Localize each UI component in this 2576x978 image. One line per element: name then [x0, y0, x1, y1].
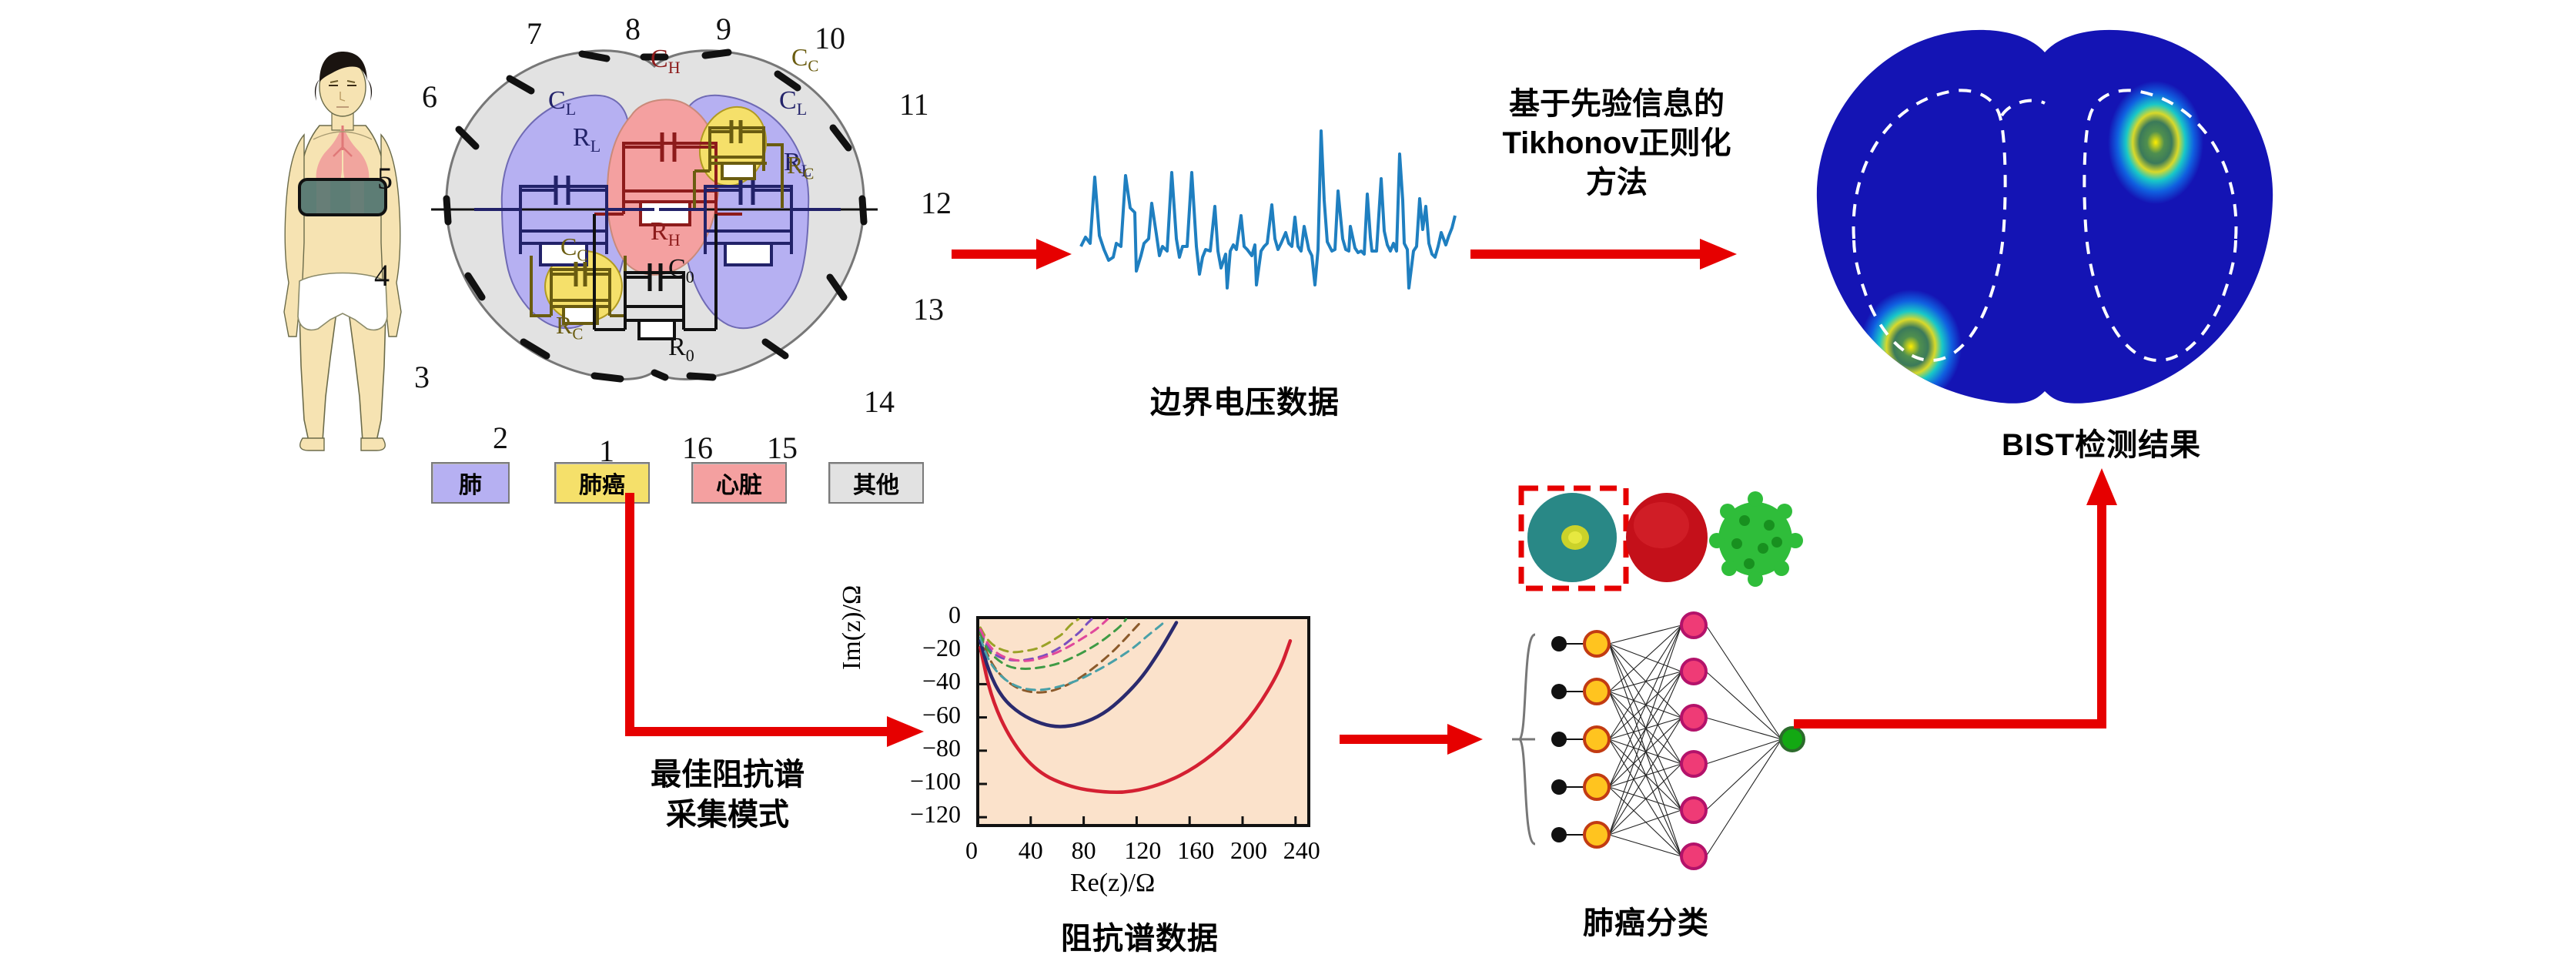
chart-x-tick: 120 — [1124, 836, 1161, 865]
neural-network-diagram — [1501, 608, 1809, 878]
electrode-number-9: 9 — [716, 11, 731, 47]
label-left-lung-capacitor: CL — [548, 86, 576, 119]
cell-sample-images — [1501, 477, 1809, 601]
nn-node-hidden — [1681, 844, 1706, 869]
chart-y-tick: −120 — [847, 800, 961, 829]
arrow-voltage-to-bist — [1470, 231, 1740, 277]
nn-edge — [1609, 644, 1681, 810]
tissue-legend: 肺 肺癌 心脏 其他 — [431, 462, 862, 496]
electrode-number-2: 2 — [493, 420, 508, 456]
label-right-lung-capacitor: CL — [779, 86, 807, 119]
chart-x-tick: 0 — [965, 836, 978, 865]
optimal-acquisition-line-2: 采集模式 — [616, 795, 839, 835]
nn-node-hidden — [1681, 798, 1706, 822]
chart-x-tick: 240 — [1283, 836, 1320, 865]
chart-y-tick: −40 — [847, 667, 961, 695]
label-left-tumour-resistor: RC — [556, 311, 583, 343]
chart-y-axis-label: Im(z)/Ω — [838, 585, 867, 670]
nn-edge — [1609, 787, 1681, 810]
nn-edge — [1609, 625, 1681, 835]
nn-node-input — [1584, 727, 1609, 752]
nn-node-hidden — [1681, 613, 1706, 638]
label-other-resistor: R0 — [668, 333, 694, 366]
nn-edge — [1609, 692, 1681, 856]
nn-edge — [1609, 644, 1681, 764]
bist-hotspot-right — [2108, 81, 2203, 204]
optimal-acquisition-line-1: 最佳阻抗谱 — [616, 755, 839, 795]
nn-node-hidden — [1681, 705, 1706, 730]
arrow-network-to-bist — [1794, 462, 2156, 755]
electrode-number-12: 12 — [921, 185, 952, 221]
nn-input-dot — [1551, 779, 1567, 795]
label-heart-resistor: RH — [651, 217, 681, 250]
electrode-number-16: 16 — [682, 430, 713, 466]
nn-edge — [1706, 625, 1781, 739]
electrode-number-10: 10 — [815, 20, 845, 56]
nn-edge — [1609, 625, 1681, 644]
nn-input-dot — [1551, 732, 1567, 747]
bist-caption: BIST检测结果 — [2002, 420, 2201, 464]
nn-edge — [1706, 739, 1781, 856]
nn-input-dot — [1551, 827, 1567, 842]
label-left-tumour-capacitor: CC — [560, 233, 587, 265]
nn-edge — [1706, 739, 1781, 764]
nn-node-input — [1584, 679, 1609, 704]
chart-y-tick: −80 — [847, 734, 961, 762]
tikhonov-line-2: Tikhonov正则化 — [1463, 124, 1771, 163]
nn-edge — [1609, 739, 1681, 764]
label-left-lung-resistor: RL — [573, 123, 601, 156]
chart-x-tick: 160 — [1177, 836, 1214, 865]
electrode-number-11: 11 — [899, 86, 929, 122]
nn-input-dot — [1551, 684, 1567, 699]
arrow-impedance-to-network — [1340, 716, 1486, 762]
nn-node-input — [1584, 631, 1609, 656]
chart-x-axis-label: Re(z)/Ω — [1070, 869, 1155, 898]
electrode-number-14: 14 — [864, 383, 895, 420]
chart-x-tick: 200 — [1230, 836, 1267, 865]
impedance-caption: 阻抗谱数据 — [1061, 913, 1219, 958]
electrode-number-13: 13 — [913, 291, 944, 327]
electrode-number-15: 15 — [767, 430, 798, 466]
electrode-number-5: 5 — [377, 160, 393, 196]
nn-input-dot — [1551, 636, 1567, 651]
nn-node-input — [1584, 822, 1609, 847]
label-heart-capacitor: CH — [651, 45, 681, 78]
nn-node-input — [1584, 775, 1609, 799]
tikhonov-method-label: 基于先验信息的 Tikhonov正则化 方法 — [1463, 85, 1771, 203]
electrode-number-8: 8 — [625, 11, 641, 47]
teal-cell — [1527, 493, 1617, 582]
nn-node-hidden — [1681, 659, 1706, 684]
green-spiky-cell — [1709, 491, 1803, 587]
human-body-illustration — [266, 35, 420, 450]
nn-edge — [1706, 718, 1781, 739]
chart-x-tick-labels: 04080120160200240 — [847, 608, 1324, 655]
chart-x-tick: 40 — [1019, 836, 1043, 865]
bist-reconstruction-image — [1771, 8, 2541, 439]
arrow-thorax-to-voltage — [952, 231, 1075, 277]
nn-edge — [1609, 692, 1681, 810]
electrode-number-7: 7 — [527, 15, 542, 52]
bist-hotspot-left — [1860, 290, 1962, 404]
chart-y-tick: −60 — [847, 701, 961, 729]
optimal-acquisition-label: 最佳阻抗谱 采集模式 — [616, 755, 839, 835]
electrode-number-6: 6 — [422, 79, 437, 115]
chart-y-tick: −100 — [847, 767, 961, 795]
label-other-capacitor: C0 — [668, 254, 694, 287]
legend-item-lung: 肺 — [431, 462, 510, 504]
legend-label-lung: 肺 — [459, 466, 482, 500]
electrode-number-3: 3 — [414, 359, 430, 395]
nn-node-hidden — [1681, 752, 1706, 776]
classification-caption: 肺癌分类 — [1583, 898, 1709, 943]
nn-edge — [1706, 739, 1781, 810]
electrode-number-4: 4 — [374, 257, 390, 293]
nn-edge — [1609, 625, 1681, 739]
tikhonov-line-1: 基于先验信息的 — [1463, 85, 1771, 124]
chart-x-tick: 80 — [1072, 836, 1096, 865]
boundary-voltage-caption: 边界电压数据 — [1150, 377, 1340, 422]
tikhonov-line-3: 方法 — [1463, 163, 1771, 203]
electrode-belt — [299, 179, 386, 215]
label-right-tumour-resistor: RC — [787, 151, 814, 183]
boundary-voltage-plot — [1078, 92, 1478, 347]
